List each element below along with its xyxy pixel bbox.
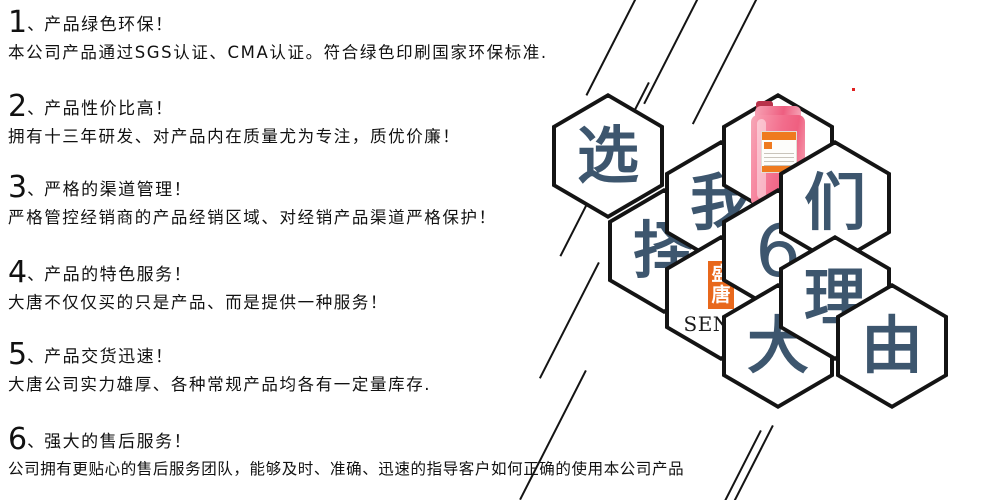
banner-canvas: 1、产品绿色环保！ 本公司产品通过SGS认证、CMA认证。符合绿色印刷国家环保标…: [0, 0, 1000, 500]
reason-number: 5: [8, 337, 27, 372]
reason-title: 严格的渠道管理！: [44, 180, 192, 200]
reason-title: 产品交货迅速！: [44, 347, 174, 367]
reason-number: 2: [8, 89, 27, 124]
reason-separator: 、: [27, 347, 44, 367]
hexagon-you: 由: [836, 283, 948, 409]
reason-separator: 、: [27, 180, 44, 200]
reason-number: 3: [8, 170, 27, 205]
reason-title: 产品绿色环保！: [44, 15, 174, 35]
reason-separator: 、: [27, 432, 44, 452]
reason-number: 1: [8, 5, 27, 40]
reason-number: 6: [8, 422, 27, 457]
label-logo-mark: [764, 142, 772, 149]
reason-title: 强大的售后服务！: [44, 432, 192, 452]
reason-heading: 1、产品绿色环保！: [8, 8, 668, 38]
reason-title: 产品的特色服务！: [44, 265, 192, 285]
reason-separator: 、: [27, 265, 44, 285]
reason-separator: 、: [27, 99, 44, 119]
reason-body: 本公司产品通过SGS认证、CMA认证。符合绿色印刷国家环保标准.: [8, 45, 668, 62]
hexagon-label: 由: [836, 283, 948, 409]
reason-body: 公司拥有更贴心的售后服务团队，能够及时、准确、迅速的指导客户如何正确的使用本公司…: [8, 462, 998, 478]
honeycomb-cluster: 选 择 我 盛 唐 SENTA: [500, 75, 1000, 435]
label-top-bar: [762, 132, 796, 140]
reason-number: 4: [8, 255, 27, 290]
reason-separator: 、: [27, 15, 44, 35]
reason-item: 1、产品绿色环保！ 本公司产品通过SGS认证、CMA认证。符合绿色印刷国家环保标…: [8, 8, 668, 62]
reason-title: 产品性价比高！: [44, 99, 174, 119]
